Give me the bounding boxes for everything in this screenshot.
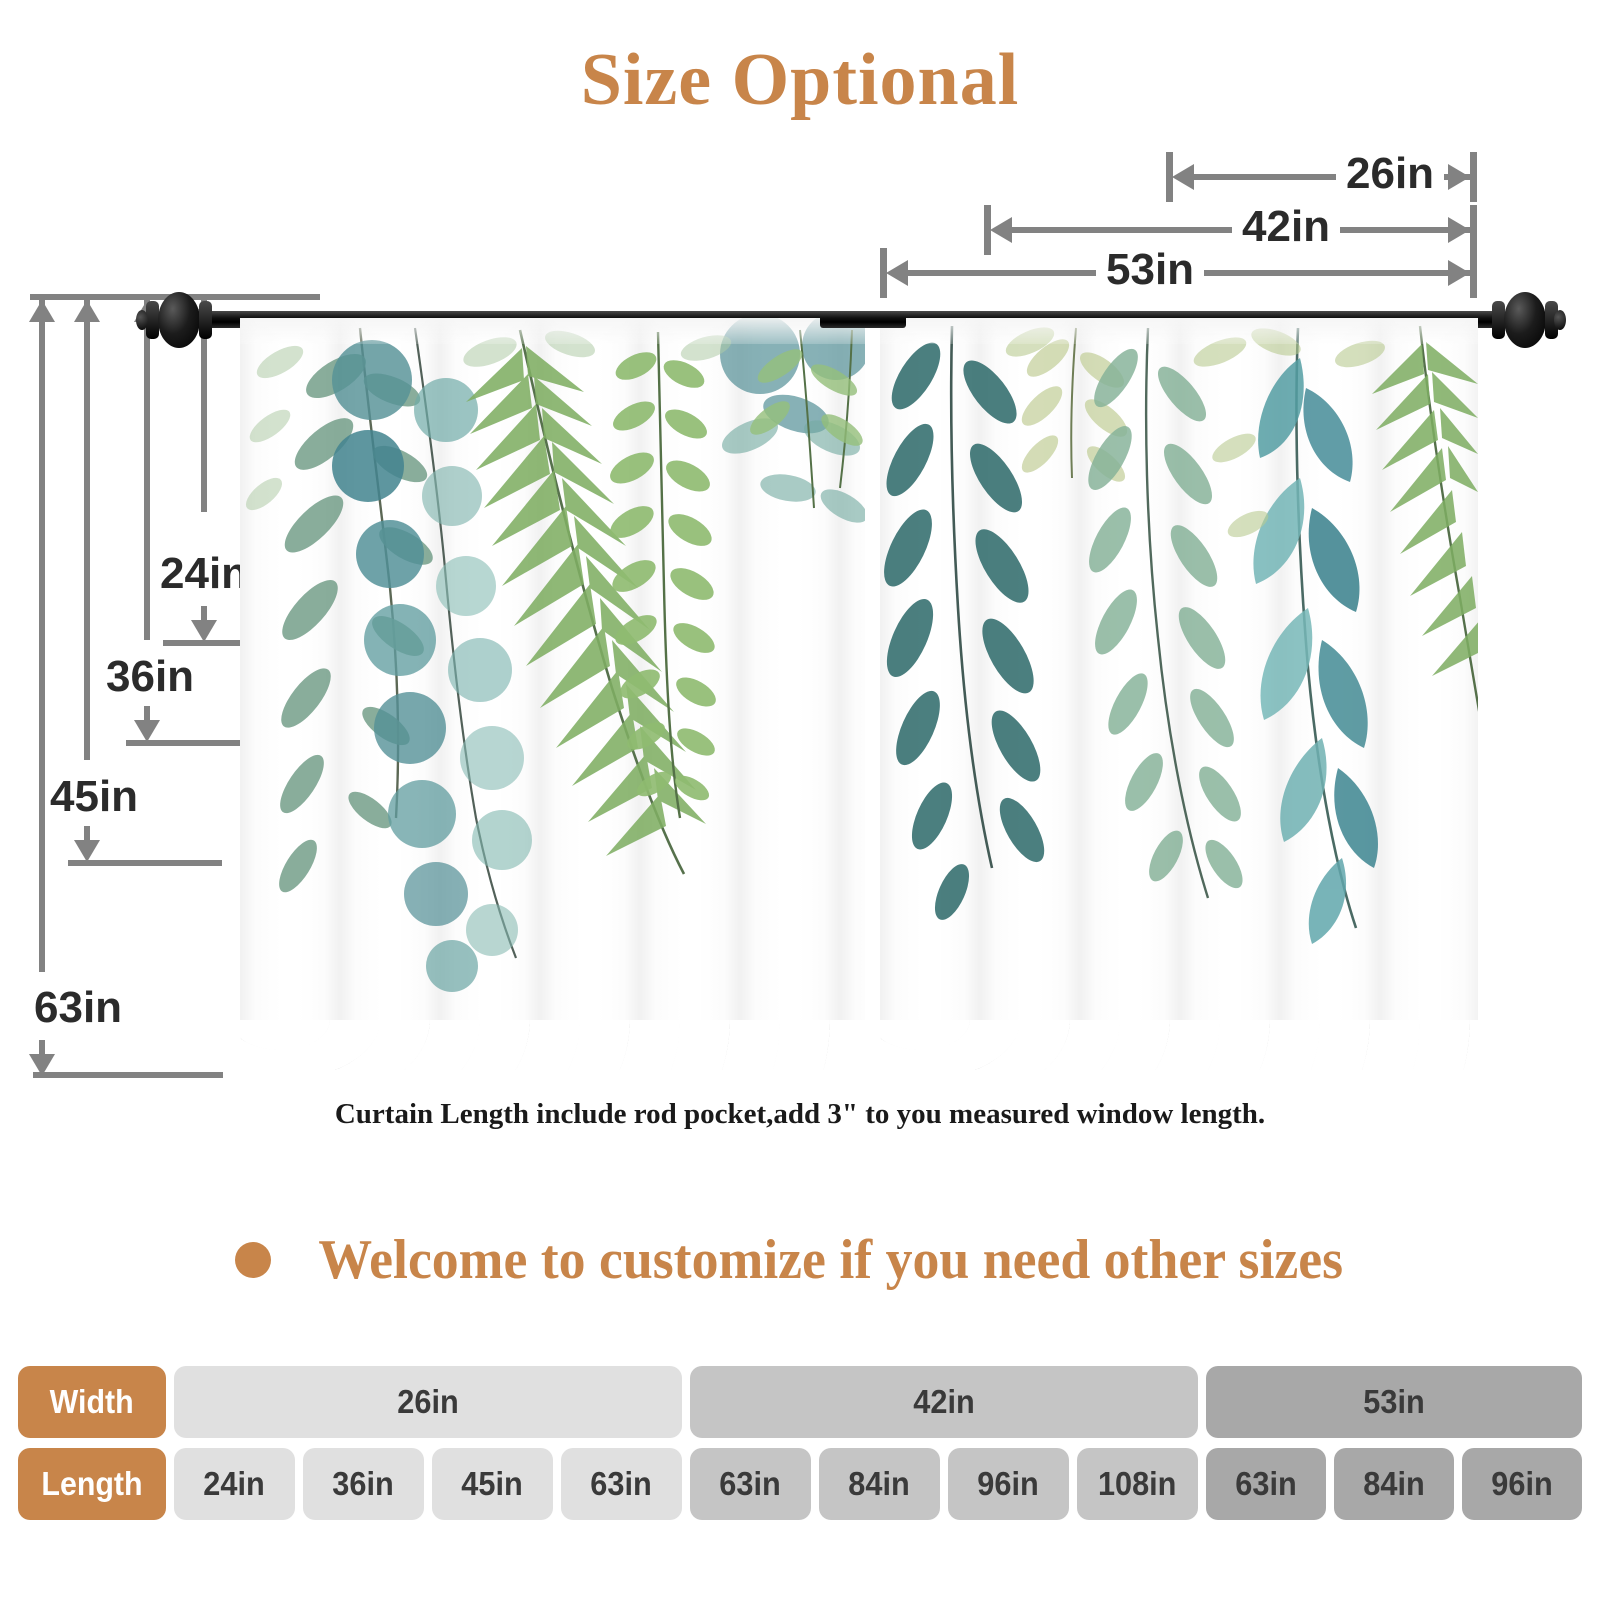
length-cell-42in-108in[interactable]: 108in xyxy=(1077,1448,1198,1520)
length-cell-26in-63in[interactable]: 63in xyxy=(561,1448,682,1520)
length-note-caption: Curtain Length include rod pocket,add 3"… xyxy=(0,1098,1600,1131)
left-panel-bottom-waves xyxy=(240,1020,865,1070)
width-cell-53in[interactable]: 53in xyxy=(1206,1366,1582,1438)
width-42in-arrow-left xyxy=(990,217,1012,243)
width-42in-arrow-right xyxy=(1448,217,1470,243)
length-group-42in: 63in 84in 96in 108in xyxy=(690,1448,1198,1520)
width-row-header-label: Width xyxy=(50,1383,134,1421)
width-42in-label: 42in xyxy=(1232,205,1340,249)
length-24in-line-lower xyxy=(201,492,207,512)
width-53in-arrow-left xyxy=(886,260,908,286)
size-options-table: Width 26in 42in 53in Length xyxy=(18,1366,1582,1520)
length-cell-label: 96in xyxy=(978,1465,1039,1503)
length-cell-26in-45in[interactable]: 45in xyxy=(432,1448,553,1520)
right-curtain-panel xyxy=(880,318,1478,1070)
length-cell-label: 108in xyxy=(1098,1465,1176,1503)
right-panel-rod-pocket xyxy=(880,318,1478,344)
welcome-banner: Welcome to customize if you need other s… xyxy=(0,1228,1600,1292)
page-title: Size Optional xyxy=(0,38,1600,123)
left-curtain-panel xyxy=(240,318,865,1070)
length-24in-endline xyxy=(163,640,241,646)
bullet-dot-icon xyxy=(235,1242,271,1278)
right-panel-bottom-waves xyxy=(880,1020,1478,1070)
width-cells: 26in 42in 53in xyxy=(174,1366,1582,1438)
width-53in-arrow-right xyxy=(1448,260,1470,286)
length-cell-label: 63in xyxy=(720,1465,781,1503)
width-cell-53in-label: 53in xyxy=(1363,1383,1424,1421)
width-cell-42in-label: 42in xyxy=(913,1383,974,1421)
length-row: Length 24in 36in 45in 63in xyxy=(18,1448,1582,1520)
length-63in-arrow-up xyxy=(29,300,55,322)
length-cell-label: 63in xyxy=(591,1465,652,1503)
length-63in-label: 63in xyxy=(24,986,132,1030)
length-63in-line xyxy=(39,300,45,972)
width-53in-tick-right xyxy=(1470,248,1477,298)
length-cell-label: 24in xyxy=(204,1465,265,1503)
infographic-canvas: Size Optional 26in 42in 53in 24in 36in 4… xyxy=(0,0,1600,1600)
length-45in-line xyxy=(84,300,90,760)
length-45in-arrow-down xyxy=(74,840,100,862)
length-cell-label: 84in xyxy=(1363,1465,1424,1503)
length-cell-53in-84in[interactable]: 84in xyxy=(1334,1448,1454,1520)
width-26in-arrow-left xyxy=(1172,164,1194,190)
curtain-rod-finial-right xyxy=(1490,292,1560,348)
width-cell-26in[interactable]: 26in xyxy=(174,1366,682,1438)
length-24in-arrow-down xyxy=(191,620,217,642)
length-cells: 24in 36in 45in 63in 63in xyxy=(174,1448,1582,1520)
width-row-header: Width xyxy=(18,1366,166,1438)
curtain-rod-gap-segment xyxy=(820,311,906,328)
length-63in-endline xyxy=(33,1072,223,1078)
length-row-header-label: Length xyxy=(41,1465,142,1503)
length-36in-arrow-down xyxy=(134,720,160,742)
length-cell-label: 63in xyxy=(1235,1465,1296,1503)
left-panel-leaf-pattern xyxy=(240,318,865,1070)
length-group-26in: 24in 36in 45in 63in xyxy=(174,1448,682,1520)
length-cell-53in-63in[interactable]: 63in xyxy=(1206,1448,1326,1520)
length-group-53in: 63in 84in 96in xyxy=(1206,1448,1582,1520)
width-26in-tick-right xyxy=(1470,152,1477,202)
length-36in-label: 36in xyxy=(96,655,204,699)
length-36in-line xyxy=(144,300,150,640)
left-panel-rod-pocket xyxy=(240,318,865,344)
length-cell-42in-84in[interactable]: 84in xyxy=(819,1448,940,1520)
length-cell-26in-24in[interactable]: 24in xyxy=(174,1448,295,1520)
length-45in-arrow-up xyxy=(74,300,100,322)
length-row-header: Length xyxy=(18,1448,166,1520)
length-cell-label: 84in xyxy=(849,1465,910,1503)
width-cell-42in[interactable]: 42in xyxy=(690,1366,1198,1438)
welcome-text: Welcome to customize if you need other s… xyxy=(319,1228,1344,1292)
width-26in-label: 26in xyxy=(1336,152,1444,196)
length-cell-label: 36in xyxy=(333,1465,394,1503)
length-45in-label: 45in xyxy=(40,775,148,819)
width-53in-label: 53in xyxy=(1096,248,1204,292)
width-26in-arrow-right xyxy=(1448,164,1470,190)
width-cell-26in-label: 26in xyxy=(397,1383,458,1421)
length-cell-53in-96in[interactable]: 96in xyxy=(1462,1448,1582,1520)
length-cell-label: 45in xyxy=(462,1465,523,1503)
right-panel-leaf-pattern xyxy=(880,318,1478,1070)
length-cell-42in-96in[interactable]: 96in xyxy=(948,1448,1069,1520)
length-45in-endline xyxy=(68,860,222,866)
width-row: Width 26in 42in 53in xyxy=(18,1366,1582,1438)
length-cell-label: 96in xyxy=(1491,1465,1552,1503)
length-cell-26in-36in[interactable]: 36in xyxy=(303,1448,424,1520)
length-cell-42in-63in[interactable]: 63in xyxy=(690,1448,811,1520)
curtain-rod-finial-left xyxy=(144,292,214,348)
